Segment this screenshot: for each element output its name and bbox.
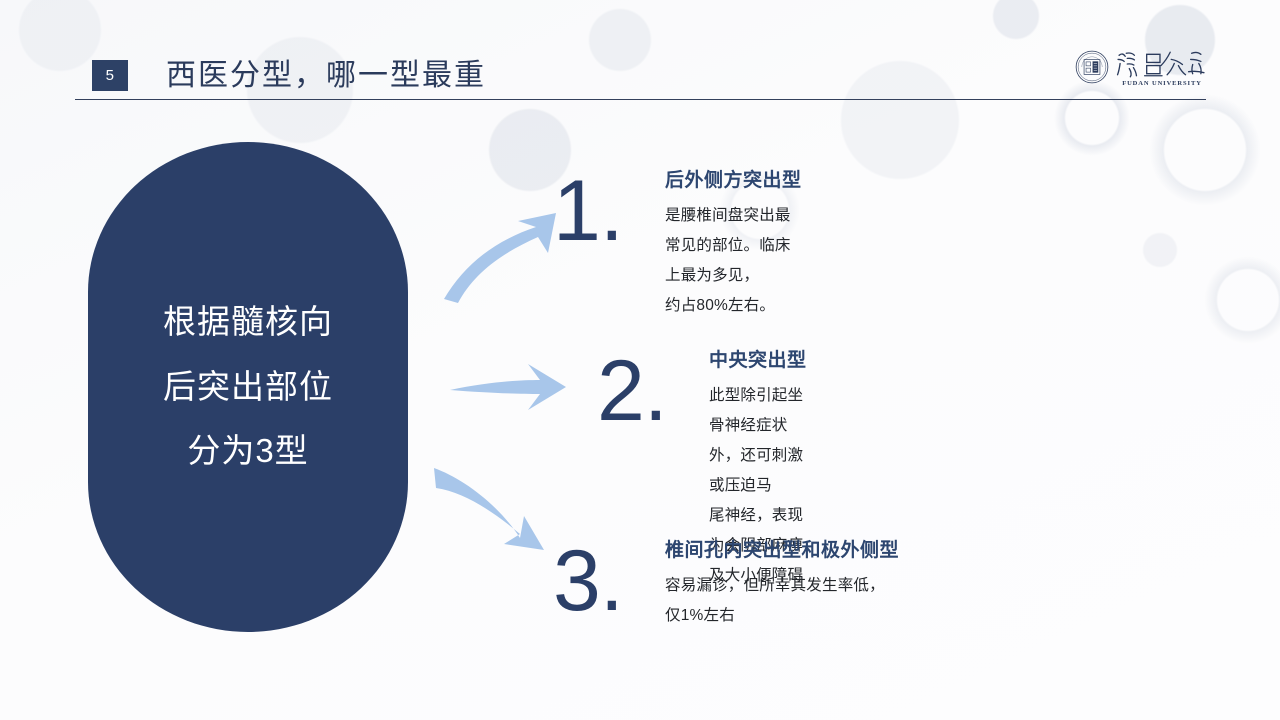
callout-line-3: 分为3型	[187, 419, 308, 483]
fudan-wordmark-en: FUDAN UNIVERSITY	[1116, 80, 1208, 87]
item-title: 椎间孔内突出型和极外侧型	[665, 538, 899, 564]
item-title: 中央突出型	[709, 348, 807, 374]
slide: 5 西医分型，哪一型最重	[0, 0, 1280, 720]
callout-shape: 根据髓核向 后突出部位 分为3型	[88, 142, 408, 632]
arrow-up-right-icon	[440, 205, 570, 305]
item-body: 后外侧方突出型 是腰椎间盘突出最常见的部位。临床上最为多见， 约占80%左右。	[665, 168, 802, 321]
item-description: 容易漏诊，但所幸其发生率低，仅1%左右	[665, 571, 899, 631]
item-description: 是腰椎间盘突出最常见的部位。临床上最为多见， 约占80%左右。	[665, 201, 802, 321]
item-number: 1.	[553, 168, 623, 254]
header-divider	[75, 99, 1206, 100]
fudan-wordmark-cn	[1115, 48, 1207, 80]
callout-line-2: 后突出部位	[163, 355, 333, 419]
arrow-right-icon	[448, 360, 568, 414]
callout-line-1: 根据髓核向	[163, 290, 333, 354]
item-title: 后外侧方突出型	[665, 168, 802, 194]
fudan-university-logo: FUDAN UNIVERSITY	[1075, 48, 1205, 94]
fudan-seal-icon	[1075, 50, 1109, 84]
item-body: 椎间孔内突出型和极外侧型 容易漏诊，但所幸其发生率低，仅1%左右	[665, 538, 899, 631]
item-number: 2.	[597, 348, 667, 434]
page-number-badge: 5	[92, 60, 128, 91]
item-number: 3.	[553, 538, 623, 624]
slide-header: 5 西医分型，哪一型最重	[0, 0, 1280, 110]
page-title: 西医分型，哪一型最重	[166, 50, 486, 94]
arrow-down-right-icon	[432, 448, 572, 554]
